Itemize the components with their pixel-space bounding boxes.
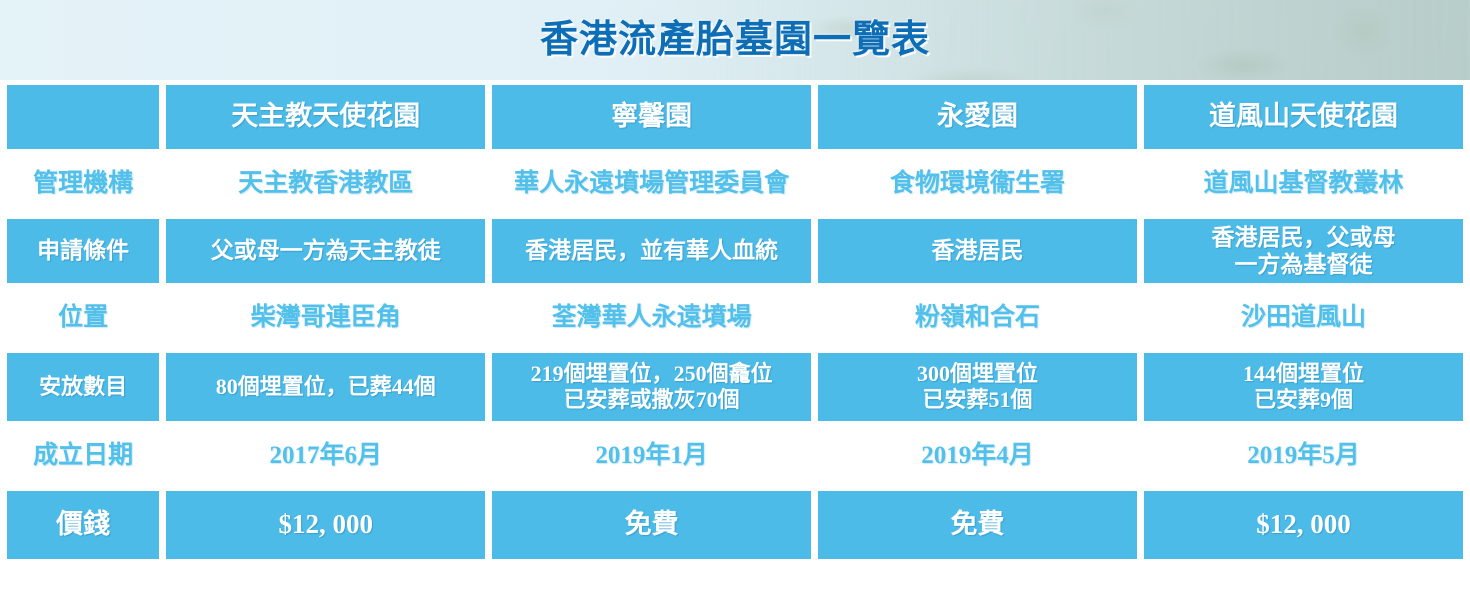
cell-conditions-4: 香港居民，父或母 一方為基督徒 <box>1144 219 1463 283</box>
infographic-page: 香港流產胎墓園一覽表 天主教天使花園 寧馨園 永愛園 道風山天使花園 <box>0 0 1470 598</box>
cell-price-2: 免費 <box>492 491 811 559</box>
row-label-text: 申請條件 <box>7 237 159 264</box>
column-header-4-label: 道風山天使花園 <box>1144 101 1463 133</box>
cell-organisation-3: 食物環境衞生署 <box>818 152 1137 216</box>
row-label-capacity: 安放數目 <box>7 353 159 421</box>
column-header-3: 永愛園 <box>818 85 1137 149</box>
cell-location-3: 粉嶺和合石 <box>818 286 1137 350</box>
cell-text: 香港居民，父或母 一方為基督徒 <box>1144 224 1463 278</box>
cell-text: 食物環境衞生署 <box>818 169 1137 199</box>
cemetery-comparison-table: 天主教天使花園 寧馨園 永愛園 道風山天使花園 管理機構 天主教香港教區 <box>0 82 1470 562</box>
cell-text: 道風山基督教叢林 <box>1144 169 1463 199</box>
table-row: 成立日期 2017年6月 2019年1月 2019年4月 2019年5月 <box>7 424 1463 488</box>
column-header-4: 道風山天使花園 <box>1144 85 1463 149</box>
banner: 香港流產胎墓園一覽表 <box>0 0 1470 80</box>
table-row: 價錢 $12, 000 免費 免費 $12, 000 <box>7 491 1463 559</box>
column-header-2-label: 寧馨園 <box>492 101 811 133</box>
table-row: 管理機構 天主教香港教區 華人永遠墳場管理委員會 食物環境衞生署 道風山基督教叢… <box>7 152 1463 216</box>
cell-conditions-2: 香港居民，並有華人血統 <box>492 219 811 283</box>
cell-established-2: 2019年1月 <box>492 424 811 488</box>
cell-text: 華人永遠墳場管理委員會 <box>492 169 811 199</box>
cell-text: 天主教香港教區 <box>166 169 485 199</box>
table-header-row: 天主教天使花園 寧馨園 永愛園 道風山天使花園 <box>7 85 1463 149</box>
cell-location-2: 荃灣華人永遠墳場 <box>492 286 811 350</box>
cell-conditions-3: 香港居民 <box>818 219 1137 283</box>
cell-established-1: 2017年6月 <box>166 424 485 488</box>
cell-location-1: 柴灣哥連臣角 <box>166 286 485 350</box>
table-row: 安放數目 80個埋置位，已葬44個 219個埋置位，250個龕位 已安葬或撒灰7… <box>7 353 1463 421</box>
cell-conditions-1: 父或母一方為天主教徒 <box>166 219 485 283</box>
row-label-price: 價錢 <box>7 491 159 559</box>
cell-capacity-2: 219個埋置位，250個龕位 已安葬或撒灰70個 <box>492 353 811 421</box>
cell-organisation-2: 華人永遠墳場管理委員會 <box>492 152 811 216</box>
column-header-3-label: 永愛園 <box>818 101 1137 133</box>
cell-capacity-4: 144個埋置位 已安葬9個 <box>1144 353 1463 421</box>
row-label-text: 管理機構 <box>7 169 159 199</box>
cell-text: 香港居民，並有華人血統 <box>492 237 811 264</box>
row-label-organisation: 管理機構 <box>7 152 159 216</box>
page-title: 香港流產胎墓園一覽表 <box>0 0 1470 80</box>
cell-text: 2019年4月 <box>818 441 1137 471</box>
cell-text: $12, 000 <box>166 509 485 541</box>
row-label-text: 安放數目 <box>7 374 159 400</box>
cell-text: 柴灣哥連臣角 <box>166 303 485 333</box>
cell-text: 免費 <box>818 509 1137 541</box>
column-header-1: 天主教天使花園 <box>166 85 485 149</box>
cell-organisation-4: 道風山基督教叢林 <box>1144 152 1463 216</box>
cell-price-4: $12, 000 <box>1144 491 1463 559</box>
row-label-conditions: 申請條件 <box>7 219 159 283</box>
row-label-text: 位置 <box>7 303 159 333</box>
cell-text: 144個埋置位 已安葬9個 <box>1144 361 1463 413</box>
cell-text: 免費 <box>492 509 811 541</box>
table-row: 申請條件 父或母一方為天主教徒 香港居民，並有華人血統 香港居民 香港居民，父或… <box>7 219 1463 283</box>
column-header-2: 寧馨園 <box>492 85 811 149</box>
row-label-established: 成立日期 <box>7 424 159 488</box>
cell-text: 2017年6月 <box>166 441 485 471</box>
cell-text: 粉嶺和合石 <box>818 303 1137 333</box>
cell-price-3: 免費 <box>818 491 1137 559</box>
cell-established-4: 2019年5月 <box>1144 424 1463 488</box>
row-label-text: 成立日期 <box>7 441 159 471</box>
cell-text: 父或母一方為天主教徒 <box>166 237 485 264</box>
cell-text: 219個埋置位，250個龕位 已安葬或撒灰70個 <box>492 361 811 413</box>
row-label-text: 價錢 <box>7 509 159 541</box>
cell-established-3: 2019年4月 <box>818 424 1137 488</box>
table-row: 位置 柴灣哥連臣角 荃灣華人永遠墳場 粉嶺和合石 沙田道風山 <box>7 286 1463 350</box>
cell-text: 沙田道風山 <box>1144 303 1463 333</box>
cell-capacity-1: 80個埋置位，已葬44個 <box>166 353 485 421</box>
column-header-1-label: 天主教天使花園 <box>166 101 485 133</box>
cell-text: 2019年1月 <box>492 441 811 471</box>
cell-text: 荃灣華人永遠墳場 <box>492 303 811 333</box>
cell-capacity-3: 300個埋置位 已安葬51個 <box>818 353 1137 421</box>
cell-organisation-1: 天主教香港教區 <box>166 152 485 216</box>
row-label-location: 位置 <box>7 286 159 350</box>
cell-text: 300個埋置位 已安葬51個 <box>818 361 1137 413</box>
cell-text: 2019年5月 <box>1144 441 1463 471</box>
cell-price-1: $12, 000 <box>166 491 485 559</box>
header-corner-cell <box>7 85 159 149</box>
cell-text: 香港居民 <box>818 237 1137 264</box>
cell-location-4: 沙田道風山 <box>1144 286 1463 350</box>
cell-text: 80個埋置位，已葬44個 <box>166 374 485 400</box>
cell-text: $12, 000 <box>1144 509 1463 541</box>
